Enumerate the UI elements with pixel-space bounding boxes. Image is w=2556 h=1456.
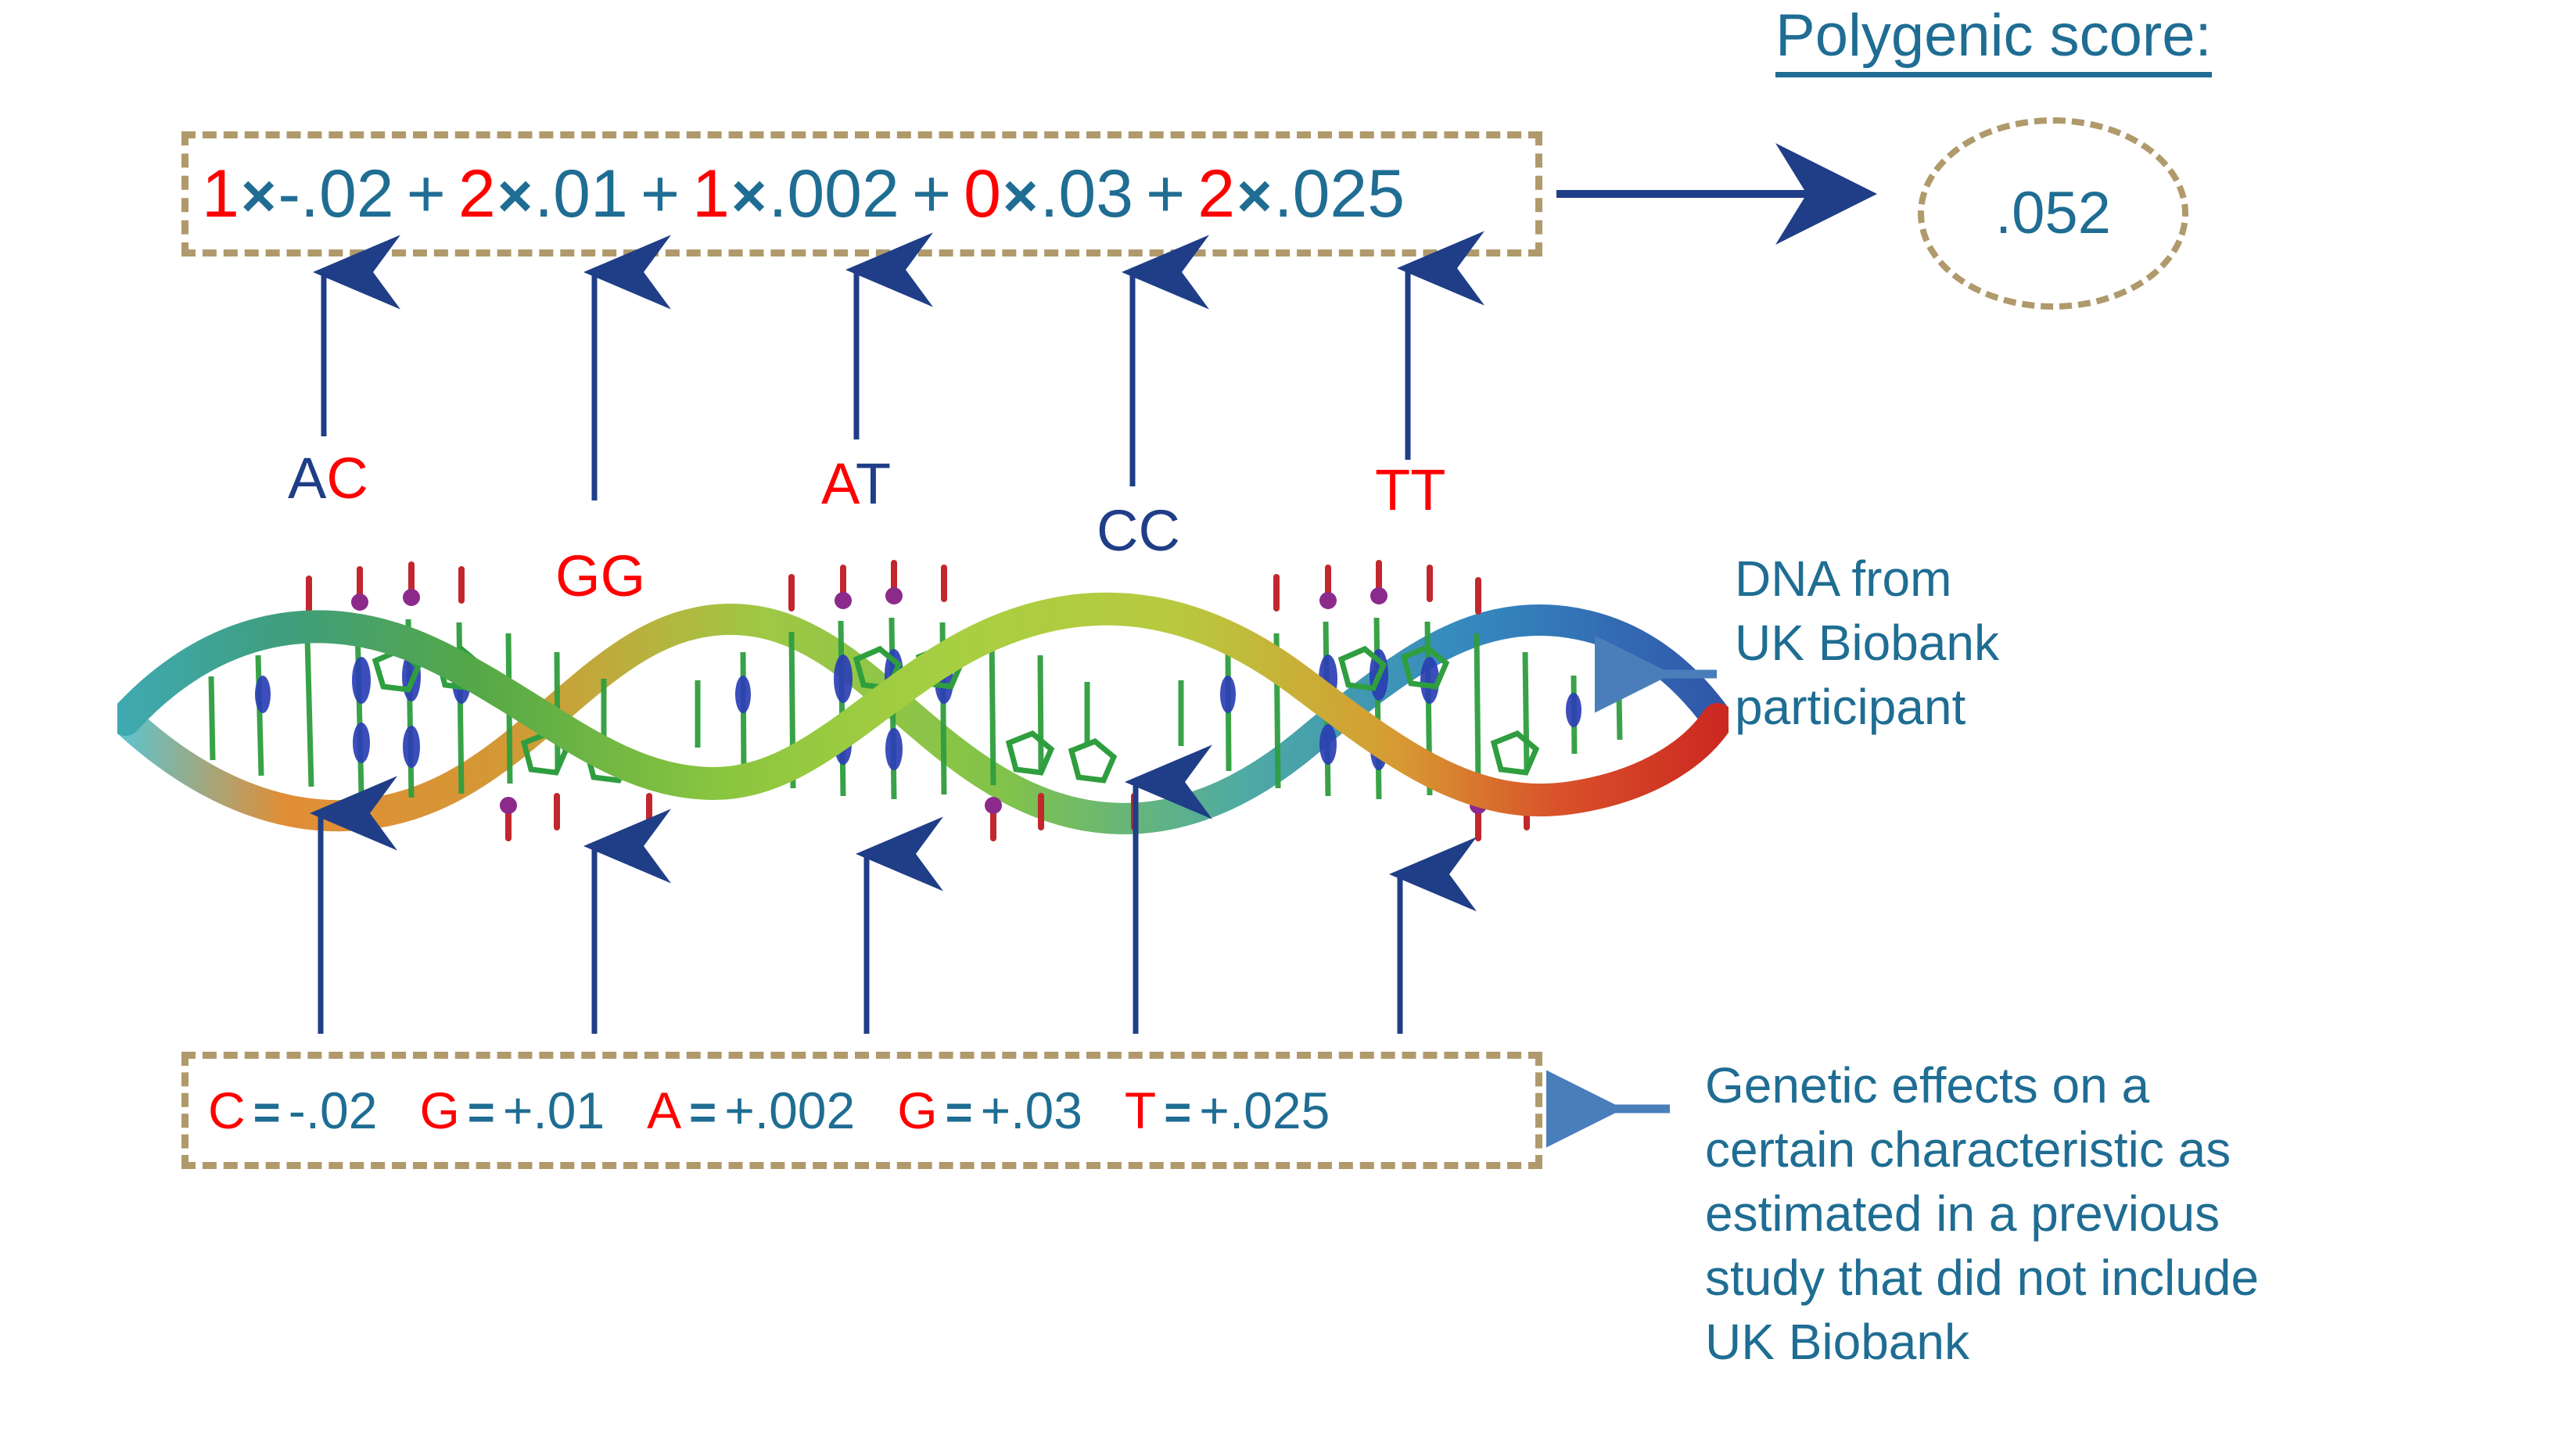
effect-weight-3: .002 (768, 160, 899, 228)
equals-symbol-3: = (681, 1089, 724, 1136)
effect-entry-1: C=-.02 (208, 1085, 377, 1136)
allele-count-3: 1 (692, 160, 730, 228)
equals-symbol-1: = (246, 1089, 289, 1136)
effect-allele-2: G (419, 1085, 459, 1136)
effect-entry-4: G=+.03 (897, 1085, 1082, 1136)
formula-term-4: 0×.03 (964, 160, 1133, 228)
effect-entry-2: G=+.01 (419, 1085, 605, 1136)
multiply-symbol-4: × (1001, 165, 1040, 226)
formula-term-2: 2×.01 (458, 160, 628, 228)
effect-allele-5: T (1125, 1085, 1156, 1136)
plus-symbol-2: + (628, 160, 692, 228)
effect-allele-1: C (208, 1085, 246, 1136)
equals-symbol-2: = (460, 1089, 503, 1136)
allele-count-5: 2 (1197, 160, 1235, 228)
multiply-symbol-3: × (730, 165, 769, 226)
effects-terms: C=-.02G=+.01A=+.002G=+.03T=+.025 (181, 1085, 1372, 1136)
effect-value-1: -.02 (289, 1085, 378, 1136)
effect-value-5: +.025 (1199, 1085, 1330, 1136)
polygenic-formula: 1×-.02+2×.01+1×.002+0×.03+2×.025 (181, 131, 1542, 256)
allele-count-1: 1 (202, 160, 239, 228)
dna-double-helix-icon (117, 485, 1729, 891)
equals-symbol-4: = (938, 1089, 981, 1136)
effect-value-4: +.03 (981, 1085, 1082, 1136)
effect-weight-4: .03 (1039, 160, 1133, 228)
effect-weight-2: .01 (534, 160, 628, 228)
effect-value-3: +.002 (724, 1085, 855, 1136)
genetic-effects-row: C=-.02G=+.01A=+.002G=+.03T=+.025 (181, 1052, 1542, 1169)
effect-value-2: +.01 (503, 1085, 605, 1136)
allele-count-2: 2 (458, 160, 496, 228)
multiply-symbol-1: × (239, 165, 278, 226)
polygenic-score-value: .052 (1995, 184, 2111, 243)
effects-note-caption: Genetic effects on a certain characteris… (1705, 1054, 2534, 1375)
plus-symbol-4: + (1133, 160, 1197, 228)
polygenic-score-ellipse: .052 (1918, 117, 2188, 310)
multiply-symbol-2: × (496, 165, 535, 226)
formula-term-5: 2×.025 (1197, 160, 1405, 228)
multiply-symbol-5: × (1235, 165, 1274, 226)
page-title: Polygenic score: (1775, 5, 2212, 77)
plus-symbol-3: + (899, 160, 964, 228)
equals-symbol-5: = (1156, 1089, 1199, 1136)
allele-count-4: 0 (964, 160, 1001, 228)
dna-source-caption: DNA from UK Biobank participant (1735, 547, 2329, 740)
effect-allele-3: A (647, 1085, 681, 1136)
formula-term-1: 1×-.02 (202, 160, 394, 228)
effect-entry-5: T=+.025 (1125, 1085, 1330, 1136)
effect-allele-4: G (897, 1085, 937, 1136)
effect-entry-3: A=+.002 (647, 1085, 855, 1136)
plus-symbol-1: + (394, 160, 458, 228)
formula-terms: 1×-.02+2×.01+1×.002+0×.03+2×.025 (181, 160, 1405, 228)
formula-term-3: 1×.002 (692, 160, 899, 228)
effect-weight-5: .025 (1274, 160, 1405, 228)
effect-weight-1: -.02 (278, 160, 393, 228)
